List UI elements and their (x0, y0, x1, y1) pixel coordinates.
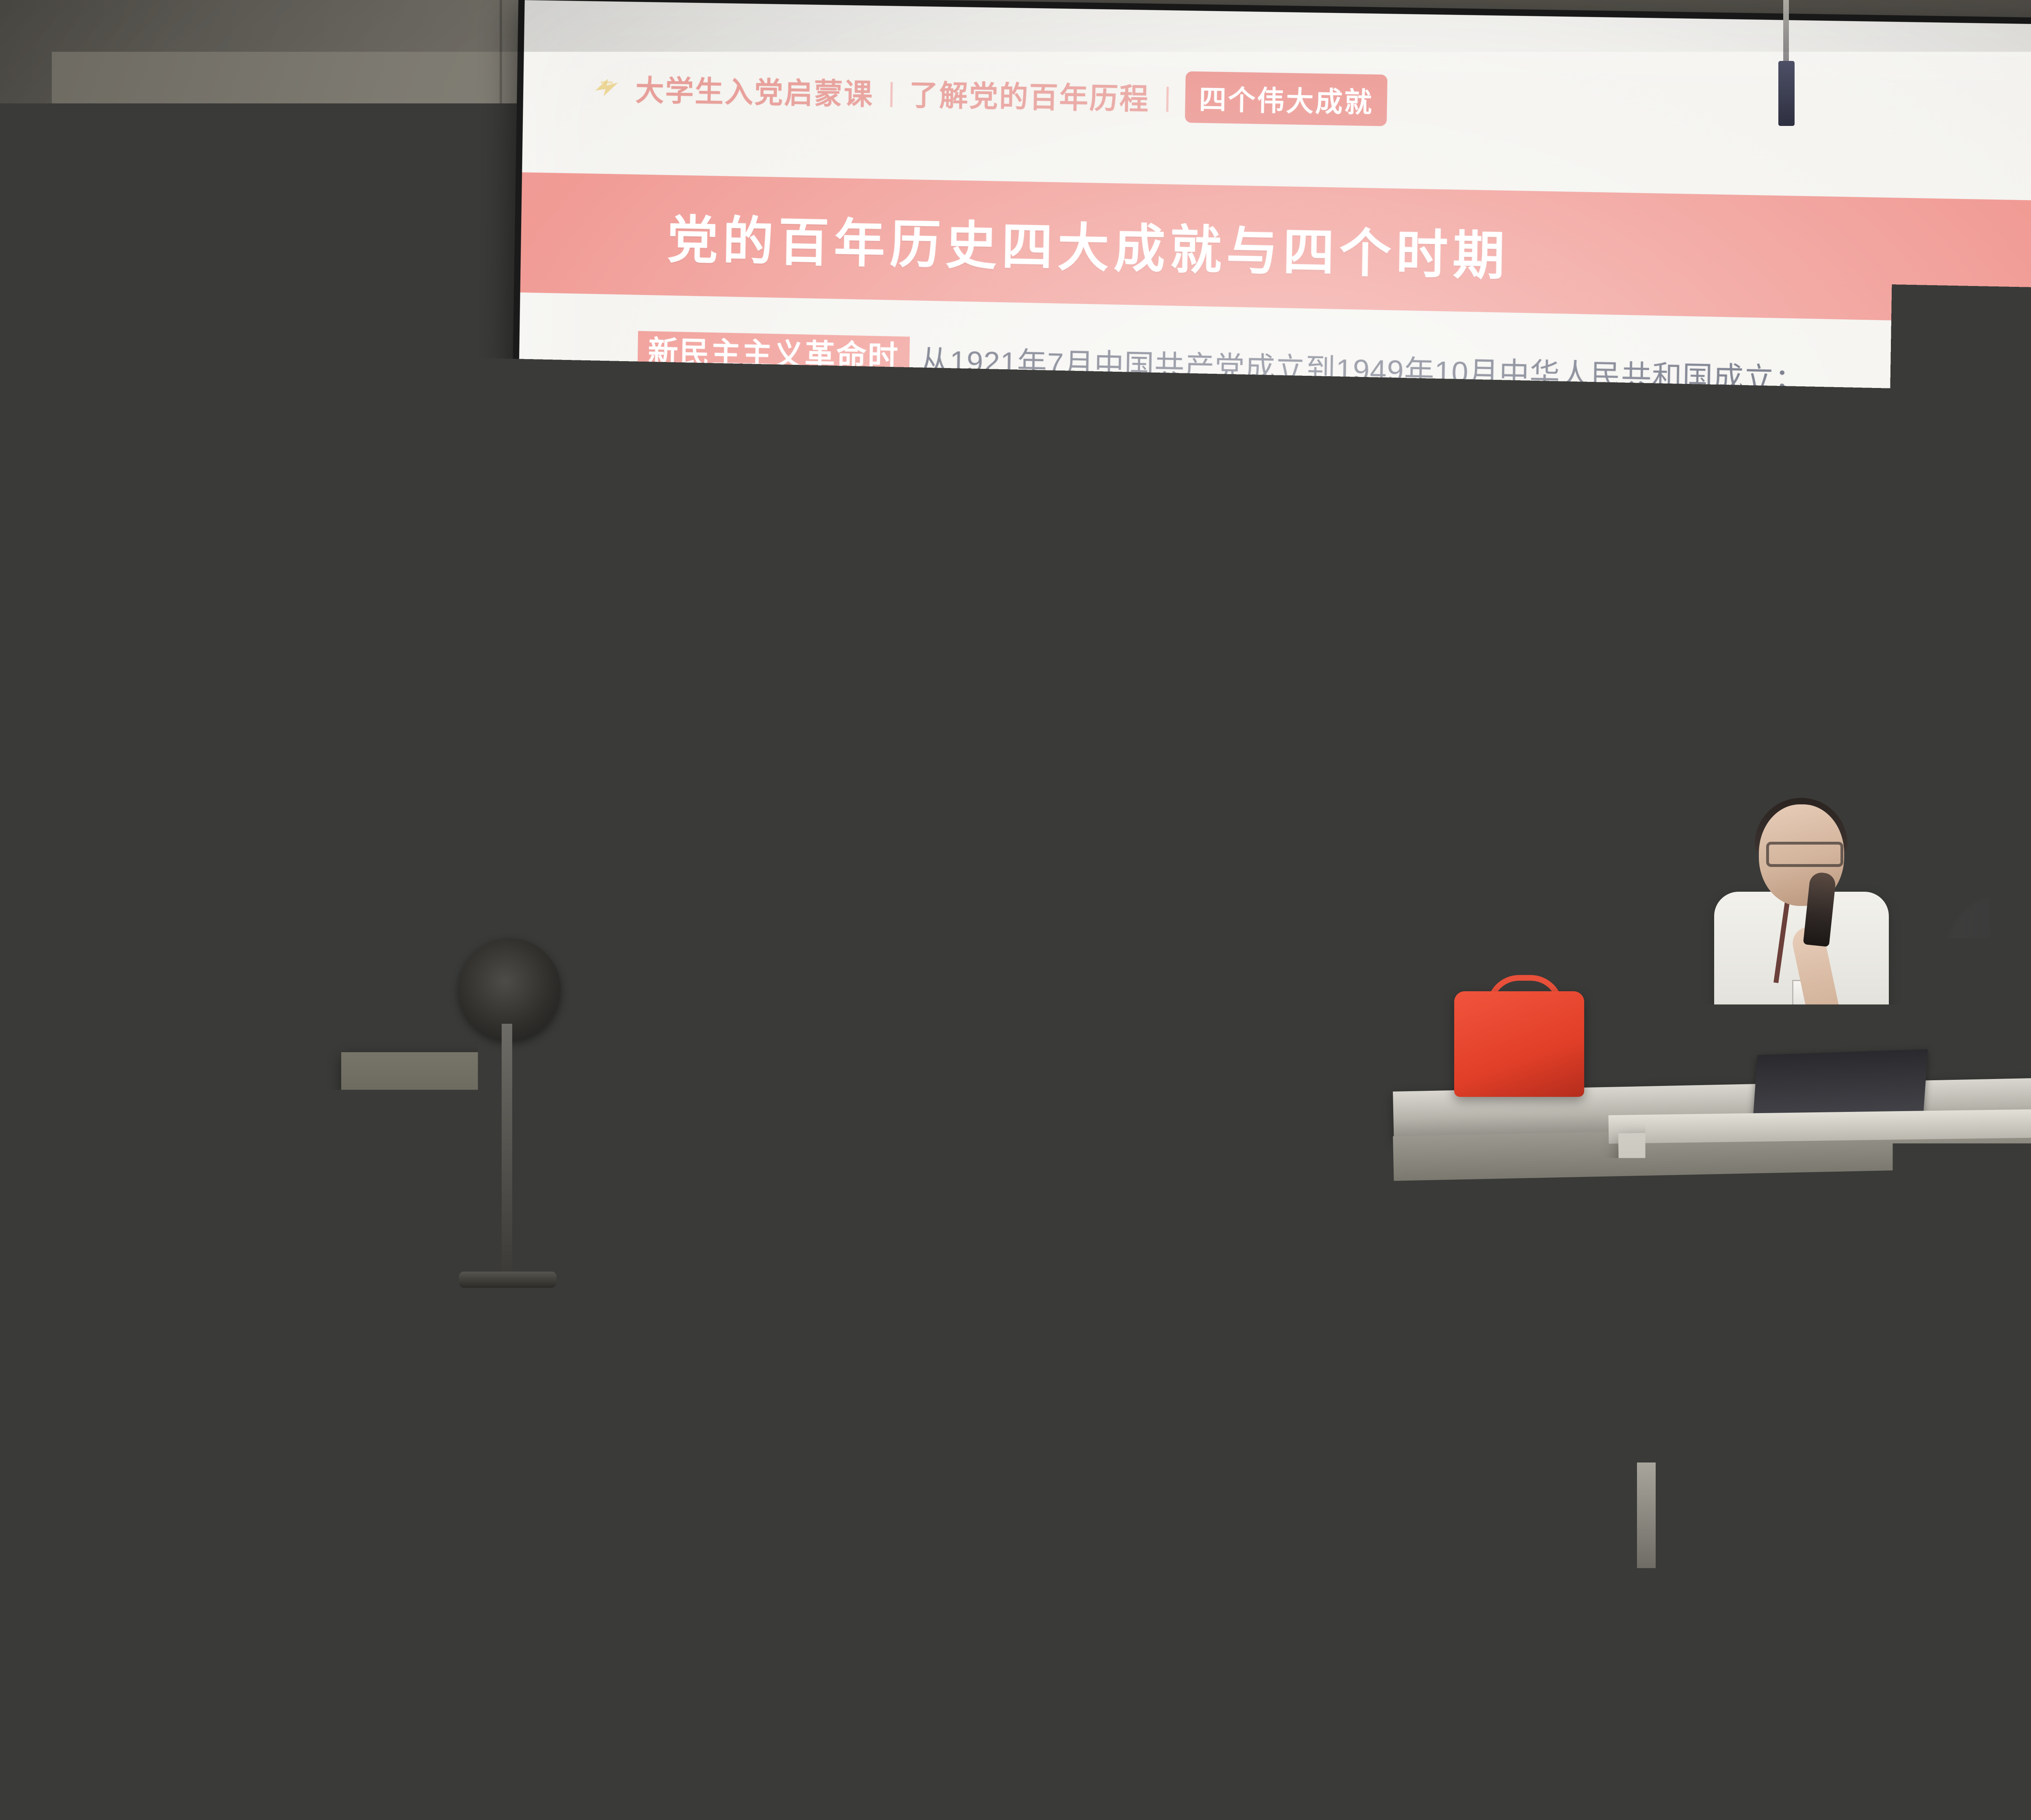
slide-block: 社会主义革命和建设时 从1949年10月到1978年12月党的十一届三中全会召开… (634, 471, 2031, 622)
foreground-audience-mass (0, 1637, 1186, 1820)
achievement-rest: 创造了社会主义革命和建设的伟大成就 (1043, 544, 1544, 588)
audience-head (776, 1211, 888, 1330)
audience-area (0, 1077, 2031, 1820)
poster-emblem-icon (203, 704, 227, 728)
pull-cord-weight[interactable] (1778, 61, 1795, 126)
period-tag: 新民主主义革命时 (637, 331, 910, 379)
lecture-hall-screenshot: 大学生入党启蒙课 | 了解党的百年历程 | 四个伟大成就 党的百年历史四大成就与… (0, 0, 2031, 1820)
glasses-icon (1766, 842, 1843, 867)
period-description: 从1978年12月到2012年11月党的十八大召开； (1168, 625, 1798, 685)
audience-head (1759, 1251, 1873, 1373)
period-tag: 中国特色社会主义新时代 (631, 752, 998, 805)
period-description: 从1921年7月中国共产党成立到1949年10月中华人民共和国成立； (920, 337, 1806, 399)
header-separator-2: | (1164, 81, 1171, 112)
period-description: 从1949年10月到1978年12月党的十一届三中全会召开； (981, 479, 1732, 540)
audience-head (540, 1223, 650, 1341)
speaker-driver (61, 938, 179, 1055)
audience-head (309, 1211, 416, 1326)
header-separator-1: | (888, 76, 895, 107)
audience-head (81, 1198, 187, 1312)
cpc-party-emblem-icon (589, 71, 624, 102)
audience-torso (1548, 1552, 1840, 1779)
audience-head (1024, 1219, 1135, 1339)
period-description: 从2012年11月党的十八大召开至今。 (1008, 763, 1501, 819)
audience-head (227, 1402, 357, 1540)
period-tag: 社会主义革命和建设时 (635, 472, 971, 522)
wall-notice-board-left-red (191, 695, 276, 841)
slide-block: 改革开放和社会主义现代化建设新时 从1978年12月到2012年11月党的十八大… (632, 612, 2031, 767)
audience-head (784, 1081, 881, 1186)
wall-notice-board-left-green (280, 691, 382, 841)
dash-prefix: —— (692, 676, 750, 709)
slide-block: 新民主主义革命时 从1921年7月中国共产党成立到1949年10月中华人民共和国… (637, 331, 2031, 479)
audience-head (1414, 1089, 1511, 1194)
header-badge: 四个伟大成就 (1185, 71, 1388, 126)
achievement-emphasis: 浴血奋战、百折不挠， (754, 396, 1046, 434)
audience-torso (1288, 1556, 1584, 1783)
course-label: 大学生入党启蒙课 (635, 67, 874, 113)
poster-header-strip (280, 697, 382, 721)
audience-torso (715, 1314, 959, 1483)
audience-torso (20, 1300, 248, 1462)
poster-text-lines (198, 760, 269, 831)
audience-head (1625, 1113, 1722, 1219)
slide-title: 党的百年历史四大成就与四个时期 (667, 198, 1510, 289)
audience-head (991, 1077, 1093, 1186)
slide-header: 大学生入党启蒙课 | 了解党的百年历程 | 四个伟大成就 (589, 61, 1388, 126)
achievement-rest: 创造了改革开放和社会主义现代化建设的伟大成就 (1041, 685, 1691, 734)
dash-prefix: —— (696, 394, 754, 428)
audience-head (581, 1422, 715, 1564)
slide-title-band: 党的百年历史四大成就与四个时期 (520, 172, 2031, 330)
section-label: 了解党的百年历程 (909, 71, 1150, 117)
dash-prefix: —— (694, 535, 752, 569)
audience-head (1515, 1223, 1629, 1345)
audience-head (1625, 1430, 1759, 1572)
achievement-emphasis: 自力更生、发愤图强， (752, 536, 1044, 576)
audience-head (1267, 1211, 1379, 1330)
achievement-emphasis: 解放思想、锐意进取， (749, 677, 1041, 717)
period-tag: 改革开放和社会主义现代化建设新时 (633, 612, 1159, 668)
achievement-rest: 创造了新民主主义革命的伟大成就 (1045, 402, 1488, 444)
poster-text-lines (288, 733, 374, 826)
audience-head (1198, 1081, 1300, 1190)
speaker-led-icon (113, 1070, 123, 1075)
